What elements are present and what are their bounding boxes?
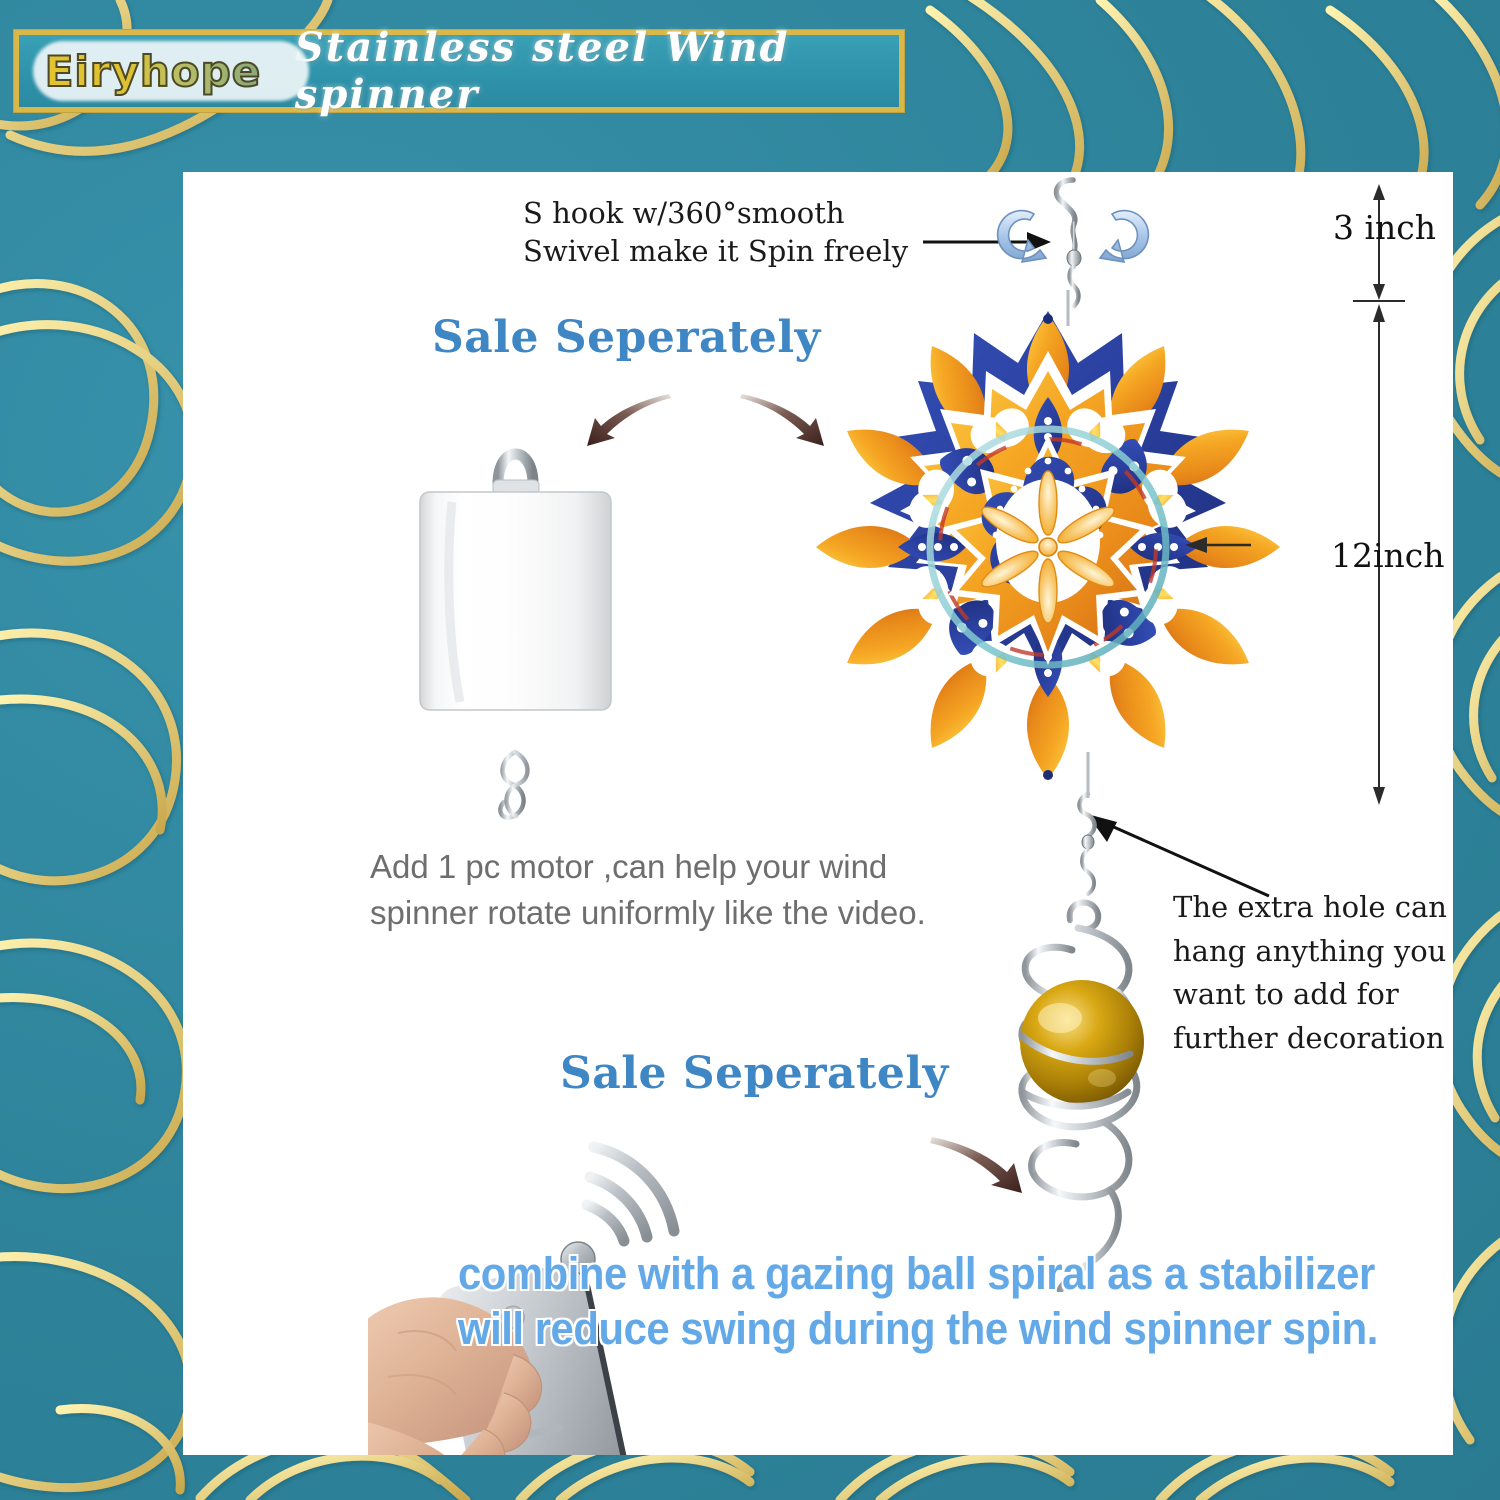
s-hook-annotation-line2: Swivel make it Spin freely [523,232,943,270]
rotation-arrow-right-icon [1100,211,1148,262]
s-hook-annotation: S hook w/360°smooth Swivel make it Spin … [523,194,943,271]
sale-separately-label-1: Sale Seperately [432,312,821,363]
rotation-arrow-left-icon [998,211,1046,262]
banner-title: Stainless steel Wind spinner [295,24,899,118]
dimension-label-12inch: 12inch [1331,536,1445,575]
gazing-ball-spiral [998,792,1178,1292]
spinner-to-spiral-wire [1043,752,1103,812]
content-panel: INDOOR & OUTDOOR USE S hook w/360°smooth… [183,172,1453,1455]
header-banner: Eiryhope Stainless steel Wind spinner [14,30,904,112]
extra-hole-annotation: The extra hole can hang anything you wan… [1173,886,1448,1060]
motor-description: Add 1 pc motor ,can help your wind spinn… [370,844,930,935]
dimension-label-3inch: 3 inch [1333,208,1436,247]
bottom-headline: combine with a gazing ball spiral as a s… [458,1247,1369,1357]
brand-logo: Eiryhope [33,43,273,99]
brand-name: Eiryhope [45,47,261,96]
sale-separately-label-2: Sale Seperately [560,1048,949,1099]
wind-spinner-motor [408,422,623,842]
bottom-headline-line1: combine with a gazing ball spiral as a s… [458,1247,1369,1302]
bottom-headline-line2: will reduce swing during the wind spinne… [458,1302,1369,1357]
signal-arc-icon [587,1147,674,1241]
s-hook-annotation-line1: S hook w/360°smooth [523,194,943,232]
spinner-width-pointer-icon [1183,530,1253,560]
